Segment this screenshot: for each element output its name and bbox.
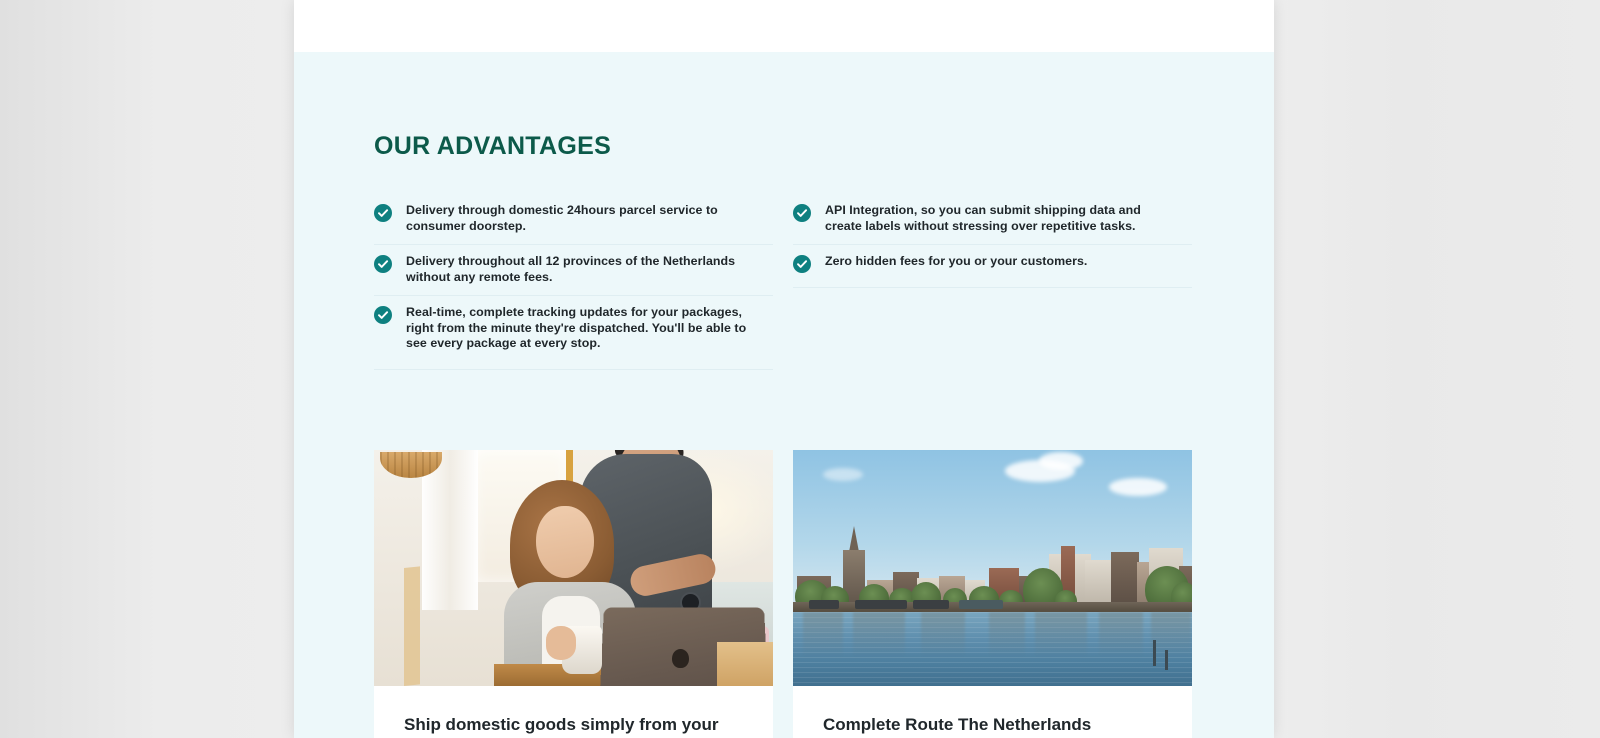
check-circle-icon (374, 255, 392, 273)
advantage-item: Real-time, complete tracking updates for… (374, 296, 773, 370)
advantage-item: API Integration, so you can submit shipp… (793, 194, 1192, 245)
feature-card-body: Complete Route The Netherlands (793, 686, 1192, 738)
feature-card-body: Ship domestic goods simply from your doo… (374, 686, 773, 738)
feature-cards-row: Ship domestic goods simply from your doo… (374, 450, 1192, 738)
advantage-item-placeholder (793, 288, 1192, 362)
amsterdam-canal-skyline-photo (793, 450, 1192, 686)
feature-card-title: Ship domestic goods simply from your doo… (404, 714, 743, 738)
top-white-band (294, 0, 1274, 52)
check-circle-icon (793, 255, 811, 273)
couple-with-moving-boxes-laptop-photo (374, 450, 773, 686)
advantages-right-column: API Integration, so you can submit shipp… (793, 194, 1192, 370)
advantages-left-column: Delivery through domestic 24hours parcel… (374, 194, 773, 370)
advantages-grid: Delivery through domestic 24hours parcel… (374, 194, 1192, 370)
our-advantages-section: OUR ADVANTAGES Delivery through domes (294, 52, 1274, 738)
feature-card[interactable]: Ship domestic goods simply from your doo… (374, 450, 773, 738)
advantage-text: Zero hidden fees for you or your custome… (825, 254, 1087, 270)
advantage-item: Zero hidden fees for you or your custome… (793, 245, 1192, 288)
advantage-text: API Integration, so you can submit shipp… (825, 203, 1170, 234)
advantage-item: Delivery through domestic 24hours parcel… (374, 194, 773, 245)
advantage-item: Delivery throughout all 12 provinces of … (374, 245, 773, 296)
page-title: OUR ADVANTAGES (374, 132, 611, 161)
check-circle-icon (793, 204, 811, 222)
advantage-text: Real-time, complete tracking updates for… (406, 305, 751, 352)
feature-card-title: Complete Route The Netherlands (823, 714, 1162, 736)
feature-card[interactable]: Complete Route The Netherlands (793, 450, 1192, 738)
browser-viewport: OUR ADVANTAGES Delivery through domes (0, 0, 1600, 738)
check-circle-icon (374, 306, 392, 324)
advantage-text: Delivery through domestic 24hours parcel… (406, 203, 751, 234)
page-canvas: OUR ADVANTAGES Delivery through domes (294, 0, 1274, 738)
advantage-text: Delivery throughout all 12 provinces of … (406, 254, 751, 285)
check-circle-icon (374, 204, 392, 222)
